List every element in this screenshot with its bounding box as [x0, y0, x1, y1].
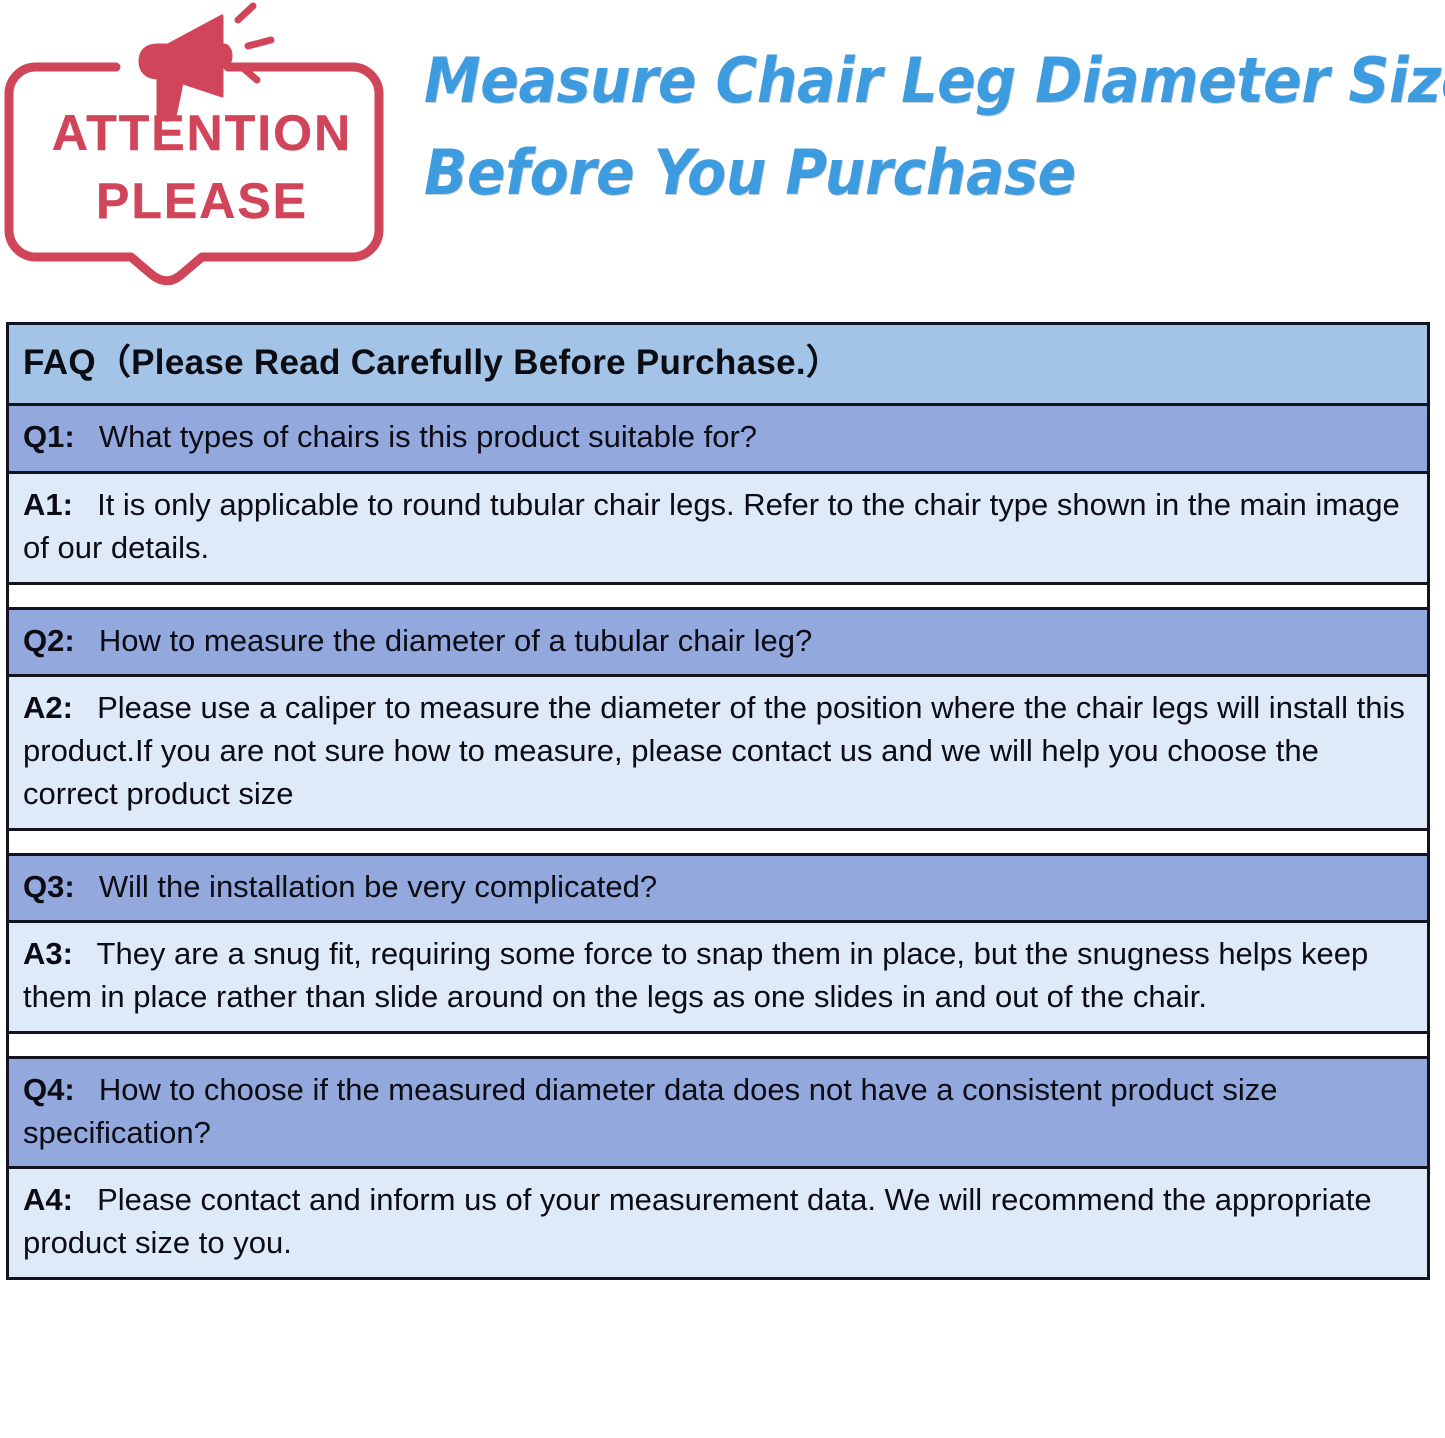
attention-badge-line1: ATTENTION [0, 108, 404, 158]
attention-badge: ATTENTION PLEASE [0, 0, 404, 295]
faq-answer-row: A2: Please use a caliper to measure the … [9, 677, 1427, 830]
faq-question-label: Q2: [23, 623, 90, 658]
page-title-line2: Before You Purchase [424, 142, 1445, 204]
faq-table: FAQ（Please Read Carefully Before Purchas… [6, 322, 1430, 1280]
faq-answer-text: Please use a caliper to measure the diam… [23, 690, 1405, 811]
faq-question-row: Q2: How to measure the diameter of a tub… [9, 610, 1427, 678]
faq-question-text: How to choose if the measured diameter d… [23, 1072, 1278, 1150]
faq-question-label: Q3: [23, 869, 90, 904]
faq-answer-row: A1: It is only applicable to round tubul… [9, 474, 1427, 585]
faq-spacer-row [9, 585, 1427, 610]
faq-question-text: How to measure the diameter of a tubular… [99, 623, 812, 658]
faq-spacer-row [9, 831, 1427, 856]
faq-answer-row: A3: They are a snug fit, requiring some … [9, 923, 1427, 1034]
faq-question-label: Q1: [23, 419, 90, 454]
faq-answer-label: A4: [23, 1182, 88, 1217]
faq-question-row: Q1: What types of chairs is this product… [9, 406, 1427, 474]
faq-answer-text: It is only applicable to round tubular c… [23, 487, 1400, 565]
faq-spacer-row [9, 1034, 1427, 1059]
header-banner: ATTENTION PLEASE Measure Chair Leg Diame… [0, 0, 1445, 310]
faq-answer-text: Please contact and inform us of your mea… [23, 1182, 1372, 1260]
faq-question-text: What types of chairs is this product sui… [99, 419, 757, 454]
faq-question-row: Q4: How to choose if the measured diamet… [9, 1059, 1427, 1170]
page-title-line1: Measure Chair Leg Diameter Size [424, 50, 1445, 112]
faq-question-row: Q3: Will the installation be very compli… [9, 856, 1427, 924]
attention-badge-line2: PLEASE [0, 176, 404, 226]
faq-answer-row: A4: Please contact and inform us of your… [9, 1169, 1427, 1277]
page-title: Measure Chair Leg Diameter Size Before Y… [404, 0, 1445, 234]
faq-question-text: Will the installation be very complicate… [99, 869, 657, 904]
faq-answer-label: A3: [23, 936, 88, 971]
faq-answer-text: They are a snug fit, requiring some forc… [23, 936, 1368, 1014]
faq-heading: FAQ（Please Read Carefully Before Purchas… [9, 325, 1427, 406]
faq-answer-label: A1: [23, 487, 88, 522]
faq-question-label: Q4: [23, 1072, 90, 1107]
faq-answer-label: A2: [23, 690, 88, 725]
